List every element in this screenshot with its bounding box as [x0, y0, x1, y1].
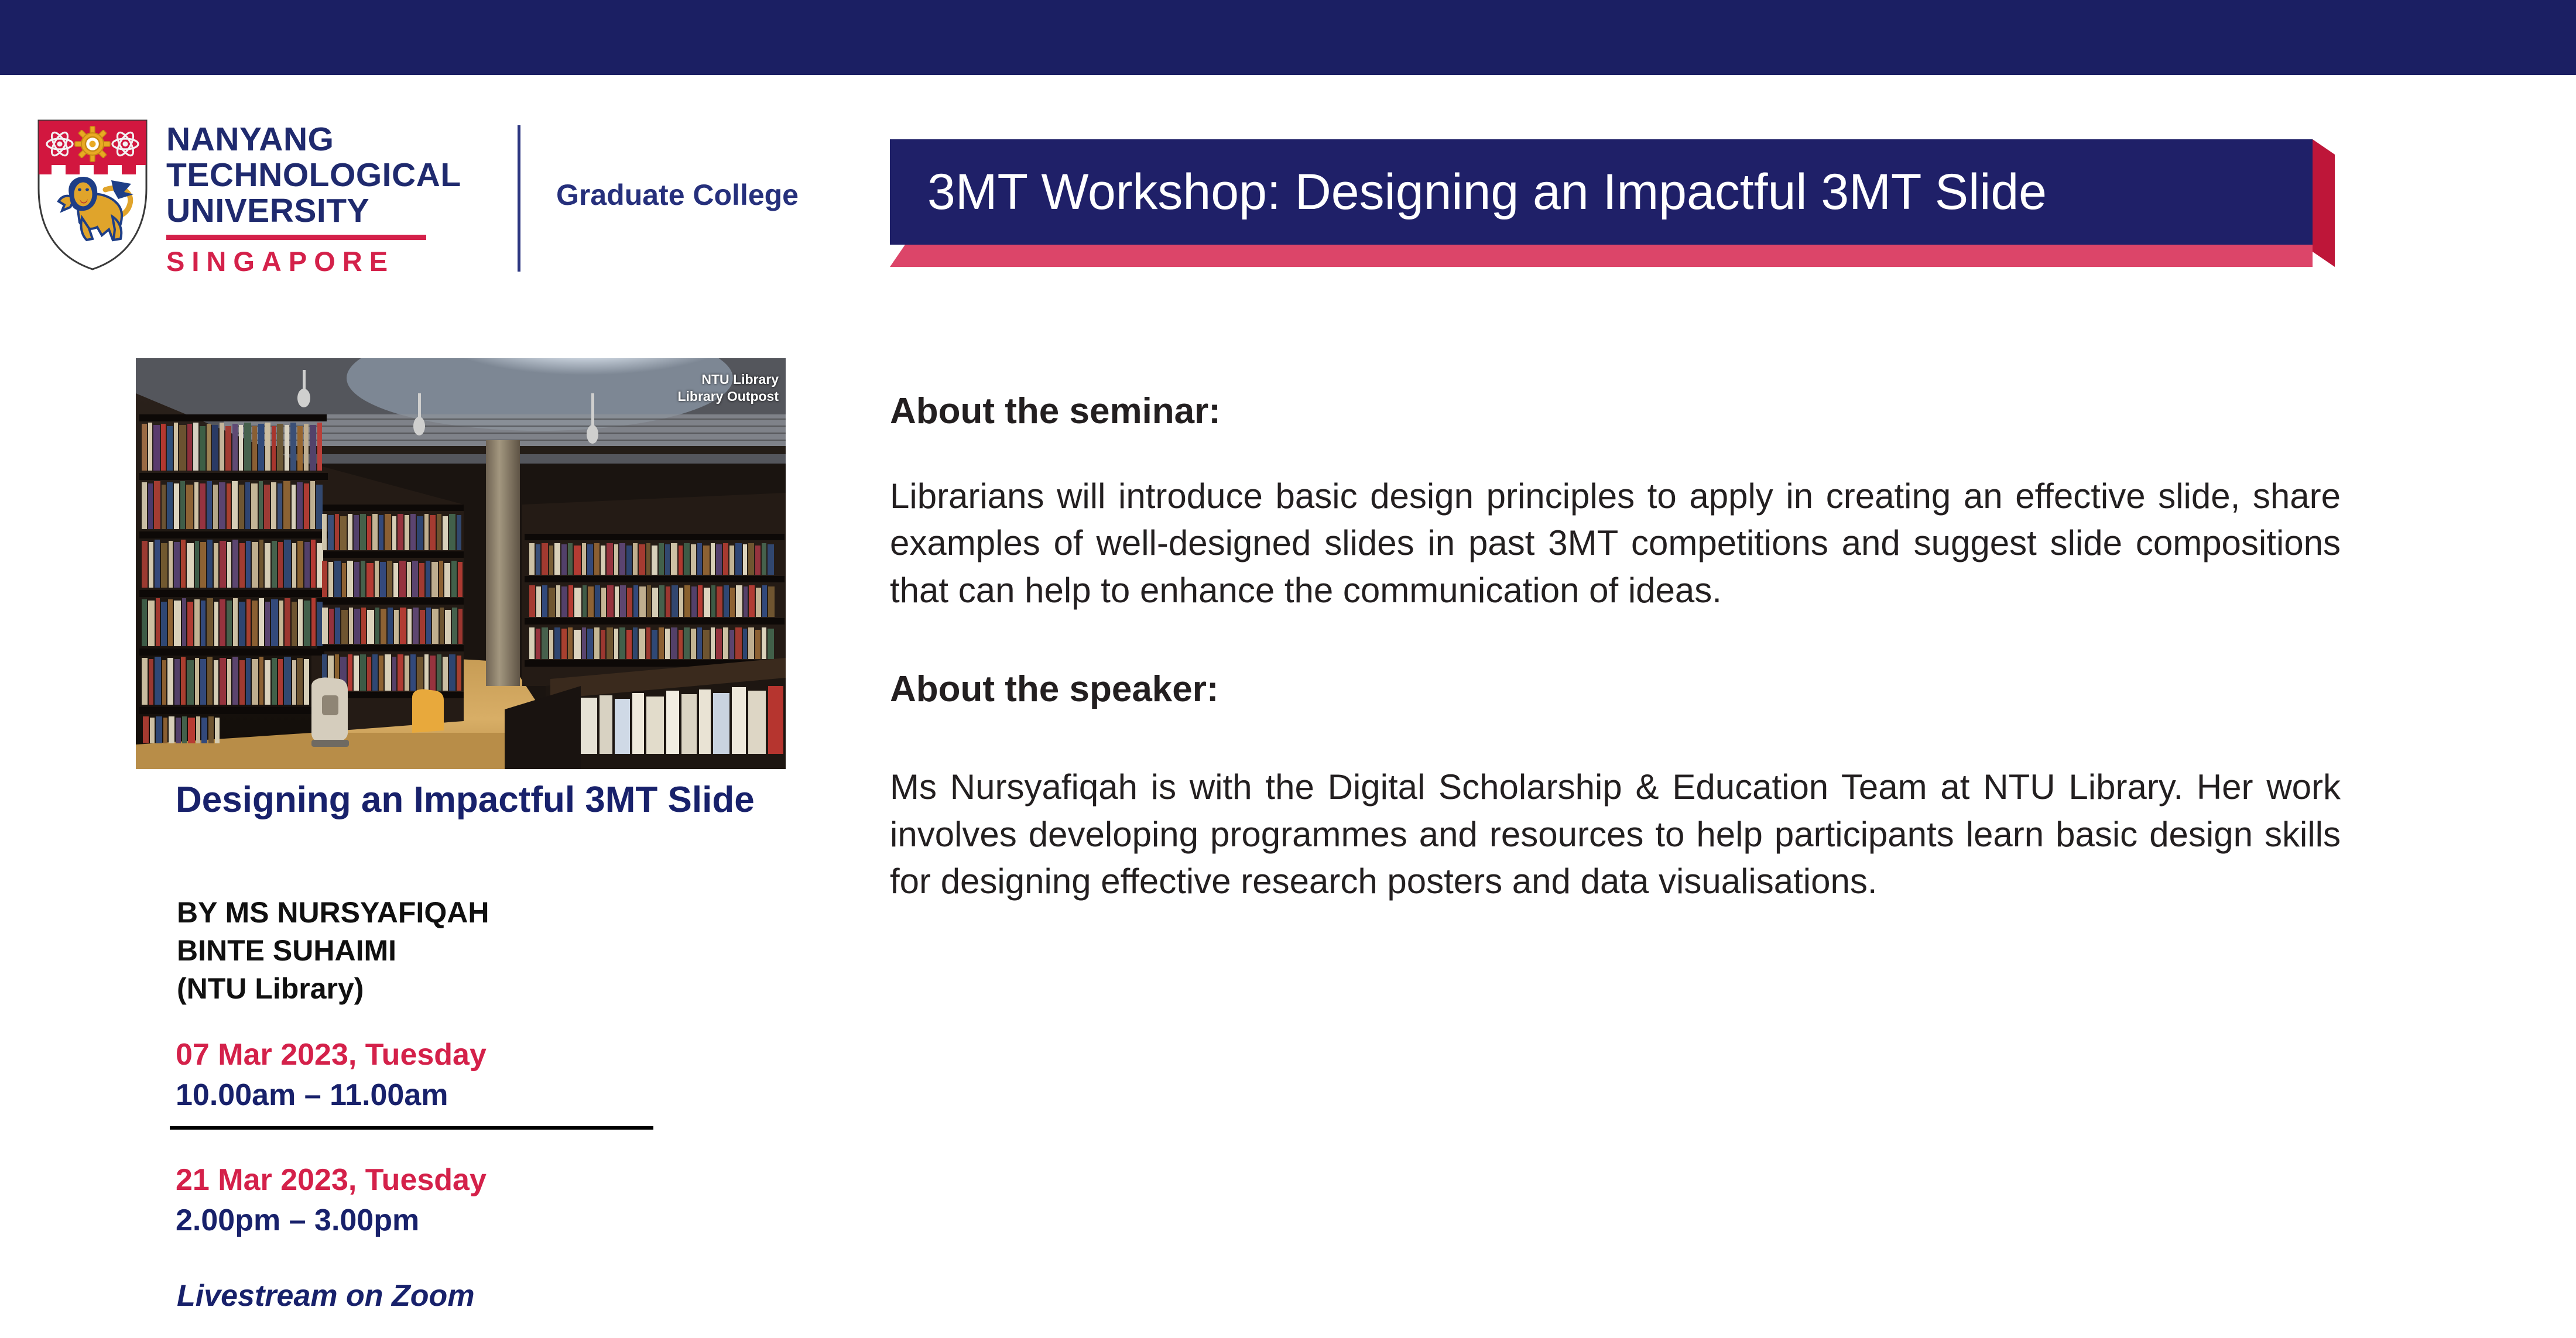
- wordmark-line-3: UNIVERSITY: [166, 193, 494, 229]
- session-1-date: 07 Mar 2023, Tuesday: [176, 1035, 814, 1075]
- spacer-2: [890, 614, 2341, 671]
- wordmark-red-rule: [166, 235, 426, 240]
- title-banner: 3MT Workshop: Designing an Impactful 3MT…: [890, 139, 2313, 245]
- session-divider: [170, 1126, 653, 1130]
- wordmark-line-1: NANYANG: [166, 122, 494, 157]
- seminar-body: Librarians will introduce basic design p…: [890, 473, 2341, 614]
- ntu-logo-lockup: NANYANG TECHNOLOGICAL UNIVERSITY SINGAPO…: [36, 110, 809, 286]
- sub-brand-label: Graduate College: [556, 178, 799, 212]
- top-navy-band: [0, 0, 2576, 75]
- speaker-credit-line-3: (NTU Library): [177, 970, 815, 1008]
- page-title: 3MT Workshop: Designing an Impactful 3MT…: [927, 139, 2047, 245]
- delivery-mode: Livestream on Zoom: [177, 1278, 475, 1313]
- banner-side-face: [2313, 139, 2335, 267]
- photo-watermark: NTU Library Library Outpost: [677, 371, 779, 405]
- session-1: 07 Mar 2023, Tuesday 10.00am – 11.00am: [176, 1035, 814, 1116]
- photo-watermark-line-2: Library Outpost: [677, 388, 779, 405]
- speaker-body: Ms Nursyafiqah is with the Digital Schol…: [890, 764, 2341, 905]
- speaker-credit-line-1: BY MS NURSYAFIQAH: [177, 894, 815, 932]
- session-title: Designing an Impactful 3MT Slide: [176, 778, 796, 821]
- speaker-credit: BY MS NURSYAFIQAH BINTE SUHAIMI (NTU Lib…: [177, 894, 815, 1008]
- seminar-heading: About the seminar:: [890, 393, 2341, 430]
- session-2: 21 Mar 2023, Tuesday 2.00pm – 3.00pm: [176, 1160, 814, 1241]
- spacer-1: [890, 430, 2341, 473]
- body-content: About the seminar: Librarians will intro…: [890, 393, 2341, 905]
- wordmark-line-2: TECHNOLOGICAL: [166, 157, 494, 193]
- ntu-wordmark: NANYANG TECHNOLOGICAL UNIVERSITY SINGAPO…: [166, 122, 494, 277]
- lockup-divider: [518, 125, 520, 272]
- speaker-credit-line-2: BINTE SUHAIMI: [177, 932, 815, 970]
- ntu-crest-icon: [36, 118, 149, 272]
- speaker-heading: About the speaker:: [890, 671, 2341, 708]
- session-2-time: 2.00pm – 3.00pm: [176, 1200, 814, 1241]
- library-photo: NTU Library Library Outpost: [136, 358, 786, 769]
- session-2-date: 21 Mar 2023, Tuesday: [176, 1160, 814, 1200]
- slide-canvas: NANYANG TECHNOLOGICAL UNIVERSITY SINGAPO…: [0, 0, 2576, 1338]
- library-photo-illustration: [136, 358, 786, 769]
- spacer-3: [890, 708, 2341, 764]
- session-1-time: 10.00am – 11.00am: [176, 1075, 814, 1116]
- wordmark-country: SINGAPORE: [166, 245, 494, 277]
- banner-bottom-face: [890, 245, 2313, 267]
- photo-watermark-line-1: NTU Library: [677, 371, 779, 388]
